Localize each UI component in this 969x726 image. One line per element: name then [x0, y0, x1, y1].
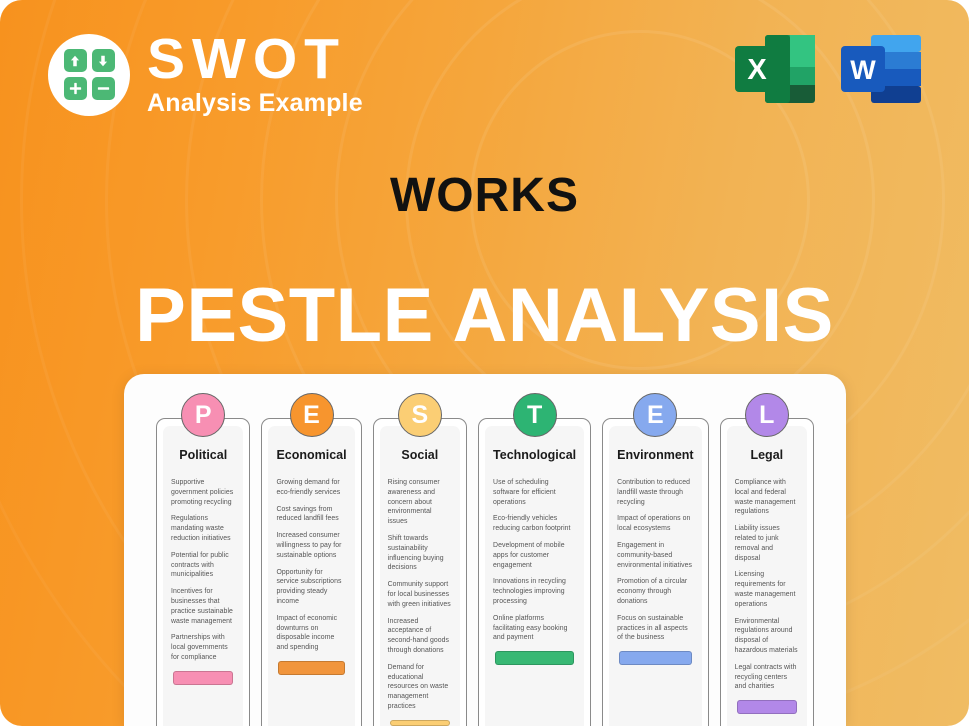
- column-footer-bar: [173, 671, 233, 685]
- column-title: Legal: [735, 448, 799, 462]
- pestle-column-technological[interactable]: TTechnologicalUse of scheduling software…: [478, 418, 591, 726]
- column-bullet-list: Use of scheduling software for efficient…: [493, 478, 576, 643]
- bullet-item: Eco-friendly vehicles reducing carbon fo…: [493, 514, 576, 534]
- column-footer-bar: [737, 700, 797, 714]
- bullet-item: Legal contracts with recycling centers a…: [735, 663, 799, 692]
- bullet-item: Rising consumer awareness and concern ab…: [388, 478, 452, 527]
- column-title: Social: [388, 448, 452, 462]
- bullet-item: Contribution to reduced landfill waste t…: [617, 478, 693, 507]
- pestle-column-economical[interactable]: EEconomicalGrowing demand for eco-friend…: [261, 418, 361, 726]
- works-heading: WORKS: [0, 168, 969, 223]
- column-body: TechnologicalUse of scheduling software …: [485, 426, 584, 726]
- bullet-item: Potential for public contracts with muni…: [171, 551, 235, 580]
- pestle-column-political[interactable]: PPoliticalSupportive government policies…: [156, 418, 250, 726]
- column-badge-l-5: L: [745, 393, 789, 437]
- bullet-item: Innovations in recycling technologies im…: [493, 577, 576, 606]
- pestle-column-environment[interactable]: EEnvironmentContribution to reduced land…: [602, 418, 708, 726]
- column-body: EconomicalGrowing demand for eco-friendl…: [268, 426, 354, 726]
- column-body: PoliticalSupportive government policies …: [163, 426, 243, 726]
- bullet-item: Shift towards sustainability influencing…: [388, 534, 452, 573]
- brand-subtitle: Analysis Example: [147, 89, 363, 118]
- column-footer-bar: [390, 720, 450, 726]
- bullet-item: Development of mobile apps for customer …: [493, 541, 576, 570]
- bullet-item: Online platforms facilitating easy booki…: [493, 614, 576, 643]
- bullet-item: Regulations mandating waste reduction in…: [171, 514, 235, 543]
- bullet-item: Environmental regulations around disposa…: [735, 617, 799, 656]
- column-badge-t-3: T: [513, 393, 557, 437]
- column-title: Political: [171, 448, 235, 462]
- bullet-item: Compliance with local and federal waste …: [735, 478, 799, 517]
- column-title: Environment: [617, 448, 693, 462]
- column-footer-bar: [495, 651, 574, 665]
- bullet-item: Liability issues related to junk removal…: [735, 524, 799, 563]
- plus-icon: [64, 77, 87, 100]
- bullet-item: Growing demand for eco-friendly services: [276, 478, 346, 498]
- bullet-item: Supportive government policies promoting…: [171, 478, 235, 507]
- pestle-board: PPoliticalSupportive government policies…: [124, 374, 846, 726]
- excel-icon: X: [732, 32, 818, 106]
- bullet-item: Incentives for businesses that practice …: [171, 587, 235, 626]
- column-bullet-list: Compliance with local and federal waste …: [735, 478, 799, 692]
- bullet-item: Cost savings from reduced landfill fees: [276, 505, 346, 525]
- column-body: SocialRising consumer awareness and conc…: [380, 426, 460, 726]
- bullet-item: Impact of operations on local ecosystems: [617, 514, 693, 534]
- office-app-icons: X W: [732, 32, 924, 106]
- column-title: Economical: [276, 448, 346, 462]
- bullet-item: Impact of economic downturns on disposab…: [276, 614, 346, 653]
- column-badge-e-4: E: [633, 393, 677, 437]
- arrow-down-icon: [92, 49, 115, 72]
- bullet-item: Promotion of a circular economy through …: [617, 577, 693, 606]
- header: SWOT Analysis Example X: [0, 0, 969, 145]
- swot-quadrant-icon: [48, 34, 130, 116]
- brand-title: SWOT: [147, 31, 363, 88]
- column-title: Technological: [493, 448, 576, 462]
- arrow-up-icon: [64, 49, 87, 72]
- column-bullet-list: Rising consumer awareness and concern ab…: [388, 478, 452, 712]
- poster-page: SWOT Analysis Example X: [0, 0, 969, 726]
- page-title: PESTLE ANALYSIS: [0, 272, 969, 359]
- bullet-item: Use of scheduling software for efficient…: [493, 478, 576, 507]
- brand-logo: SWOT Analysis Example: [48, 31, 363, 118]
- word-icon: W: [838, 32, 924, 106]
- column-badge-p-0: P: [181, 393, 225, 437]
- pestle-columns: PPoliticalSupportive government policies…: [156, 418, 814, 726]
- pestle-column-legal[interactable]: LLegalCompliance with local and federal …: [720, 418, 814, 726]
- bullet-item: Partnerships with local governments for …: [171, 633, 235, 662]
- pestle-column-social[interactable]: SSocialRising consumer awareness and con…: [373, 418, 467, 726]
- bullet-item: Community support for local businesses w…: [388, 580, 452, 609]
- bullet-item: Increased acceptance of second-hand good…: [388, 617, 452, 656]
- bullet-item: Demand for educational resources on wast…: [388, 663, 452, 712]
- column-bullet-list: Supportive government policies promoting…: [171, 478, 235, 663]
- svg-text:X: X: [747, 54, 767, 86]
- bullet-item: Focus on sustainable practices in all as…: [617, 614, 693, 643]
- column-footer-bar: [619, 651, 691, 665]
- column-badge-e-1: E: [290, 393, 334, 437]
- bullet-item: Opportunity for service subscriptions pr…: [276, 568, 346, 607]
- bullet-item: Increased consumer willingness to pay fo…: [276, 531, 346, 560]
- column-body: LegalCompliance with local and federal w…: [727, 426, 807, 726]
- minus-icon: [92, 77, 115, 100]
- svg-text:W: W: [850, 55, 876, 85]
- bullet-item: Licensing requirements for waste managem…: [735, 570, 799, 609]
- column-bullet-list: Growing demand for eco-friendly services…: [276, 478, 346, 653]
- column-bullet-list: Contribution to reduced landfill waste t…: [617, 478, 693, 643]
- column-footer-bar: [278, 661, 344, 675]
- bullet-item: Engagement in community-based environmen…: [617, 541, 693, 570]
- column-body: EnvironmentContribution to reduced landf…: [609, 426, 701, 726]
- column-badge-s-2: S: [398, 393, 442, 437]
